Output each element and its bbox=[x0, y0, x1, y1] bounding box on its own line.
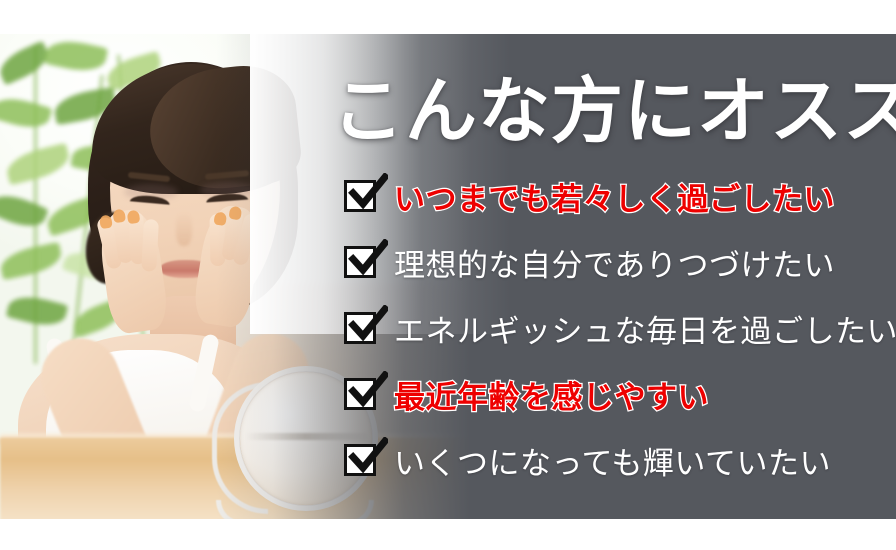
list-item: 最近年齢を感じやすい bbox=[344, 361, 892, 427]
check-mark-icon bbox=[348, 305, 388, 345]
checkbox-checked-icon bbox=[344, 246, 376, 278]
checkbox-checked-icon bbox=[344, 444, 376, 476]
promo-banner: こんな方にオススメ いつまでも若々しく過ごしたい 理想的な自分でありつづけたい bbox=[0, 0, 896, 550]
list-item: いくつになっても輝いていたい bbox=[344, 427, 892, 493]
checkbox-checked-icon bbox=[344, 312, 376, 344]
page-title: こんな方にオススメ bbox=[332, 58, 888, 150]
list-item: いつまでも若々しく過ごしたい bbox=[344, 163, 892, 229]
benefits-checklist: いつまでも若々しく過ごしたい 理想的な自分でありつづけたい エネルギッシュな毎日… bbox=[344, 163, 892, 493]
list-item-label: いくつになっても輝いていたい bbox=[394, 438, 831, 483]
list-item: 理想的な自分でありつづけたい bbox=[344, 229, 892, 295]
check-mark-icon bbox=[348, 173, 388, 213]
list-item-label: 最近年齢を感じやすい bbox=[394, 372, 709, 417]
list-item-label: いつまでも若々しく過ごしたい bbox=[394, 174, 835, 219]
check-mark-icon bbox=[348, 437, 388, 477]
list-item: エネルギッシュな毎日を過ごしたい bbox=[344, 295, 892, 361]
check-mark-icon bbox=[348, 371, 388, 411]
check-mark-icon bbox=[348, 239, 388, 279]
list-item-label: 理想的な自分でありつづけたい bbox=[394, 240, 835, 285]
checkbox-checked-icon bbox=[344, 378, 376, 410]
list-item-label: エネルギッシュな毎日を過ごしたい bbox=[394, 306, 896, 351]
checkbox-checked-icon bbox=[344, 180, 376, 212]
